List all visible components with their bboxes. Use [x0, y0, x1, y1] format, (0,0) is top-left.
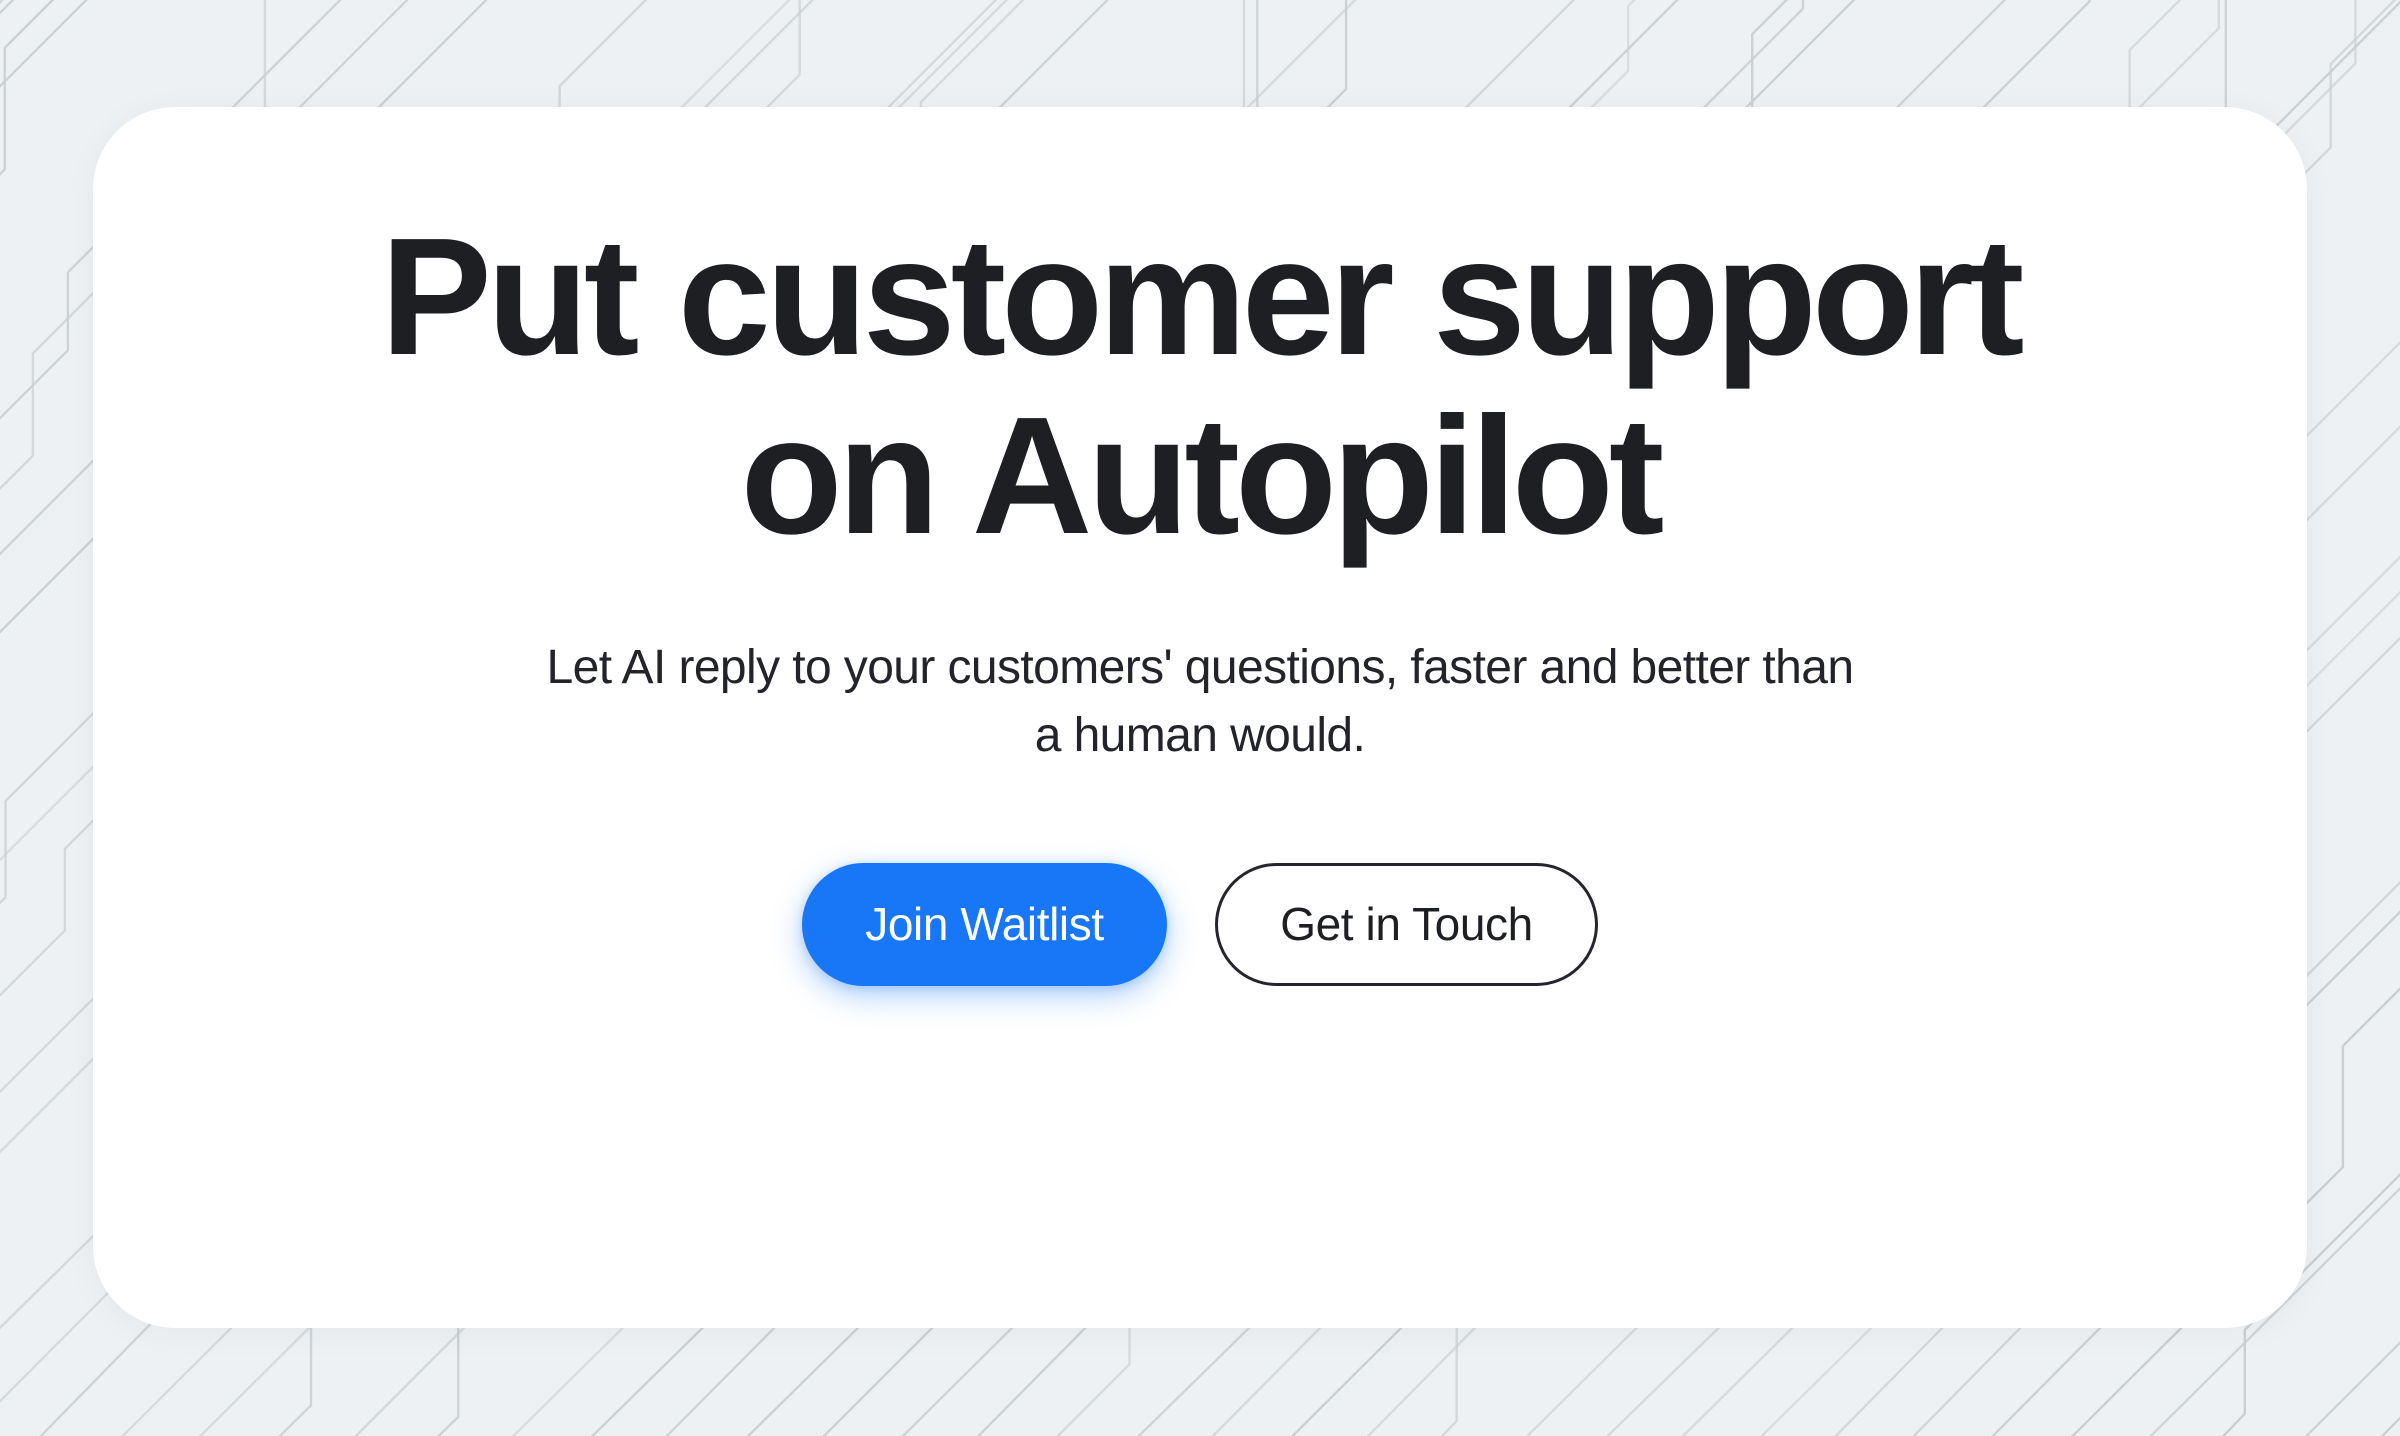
hero-subtitle: Let AI reply to your customers' question…: [545, 634, 1855, 768]
get-in-touch-button[interactable]: Get in Touch: [1215, 863, 1598, 986]
hero-content: Put customer support on Autopilot Let AI…: [93, 107, 2307, 986]
cta-button-group: Join Waitlist Get in Touch: [802, 863, 1598, 986]
circuit-trace: [2322, 0, 2400, 1436]
headline-line-1: Put customer support: [380, 204, 2019, 390]
hero-card: Put customer support on Autopilot Let AI…: [93, 107, 2307, 1328]
page-title: Put customer support on Autopilot: [380, 208, 2019, 565]
headline-line-2: on Autopilot: [741, 383, 1660, 569]
join-waitlist-button[interactable]: Join Waitlist: [802, 863, 1167, 986]
